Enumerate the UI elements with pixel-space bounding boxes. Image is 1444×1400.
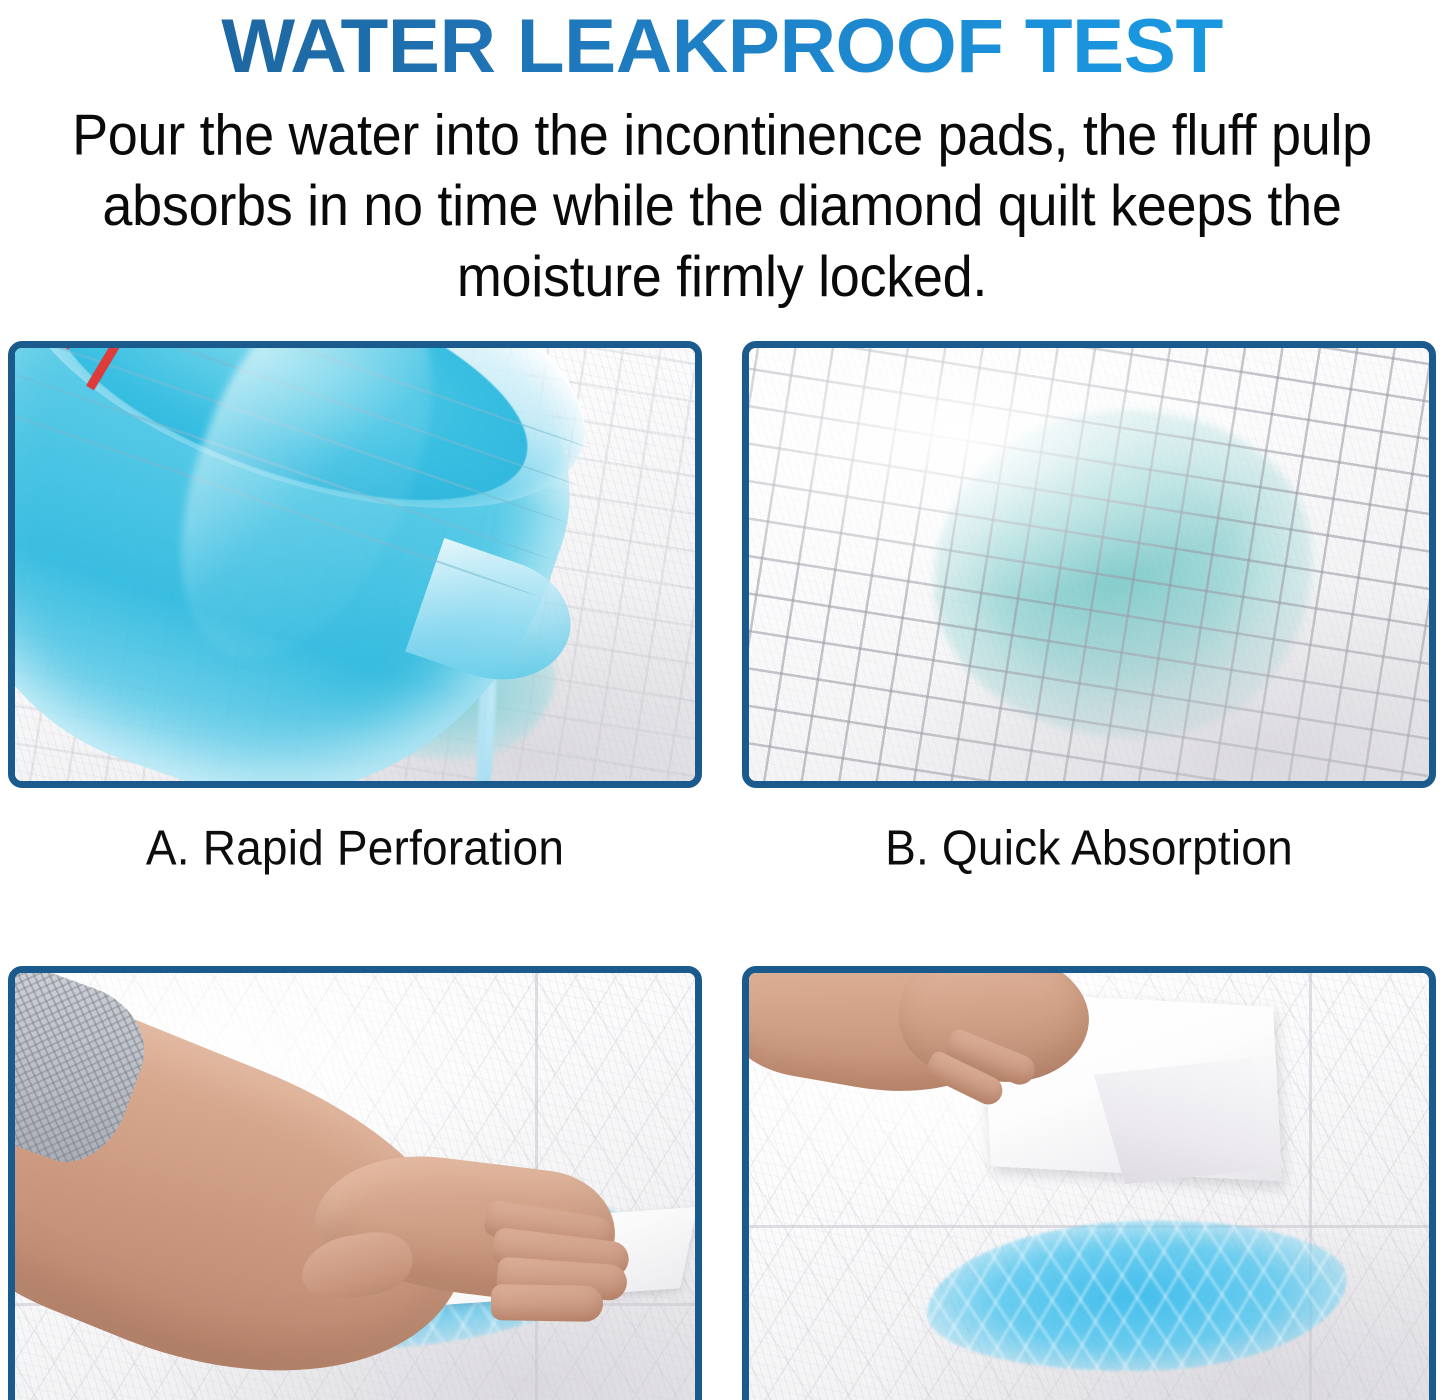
panel-a[interactable] [8, 341, 702, 788]
panel-b[interactable] [742, 341, 1436, 788]
panel-cell-a: A. Rapid Perforation [8, 341, 702, 870]
caption-panel-b: B. Quick Absorption [742, 788, 1436, 875]
panel-cell-c: C. Fast Dry Surface [8, 966, 702, 1400]
photo-fast-dry-surface [15, 973, 695, 1400]
finger [491, 1284, 604, 1322]
pad-shading [749, 348, 1429, 781]
infographic-page: WATER LEAKPROOF TEST Pour the water into… [0, 0, 1444, 1400]
panel-c[interactable] [8, 966, 702, 1400]
header: WATER LEAKPROOF TEST Pour the water into… [0, 0, 1444, 298]
panel-cell-b: B. Quick Absorption [742, 341, 1436, 870]
panel-cell-d: D. Impenetrable [742, 966, 1436, 1400]
page-title: WATER LEAKPROOF TEST [9, 4, 1435, 90]
panel-d[interactable] [742, 966, 1436, 1400]
caption-panel-a: A. Rapid Perforation [8, 788, 702, 875]
photo-rapid-perforation [15, 348, 695, 781]
page-subtitle: Pour the water into the incontinence pad… [57, 100, 1387, 312]
photo-quick-absorption [749, 348, 1429, 781]
photo-impenetrable [749, 973, 1429, 1400]
panel-grid: A. Rapid Perforation B. Quick Absorption [8, 341, 1436, 1400]
paper-towel-fold [1094, 1058, 1284, 1184]
